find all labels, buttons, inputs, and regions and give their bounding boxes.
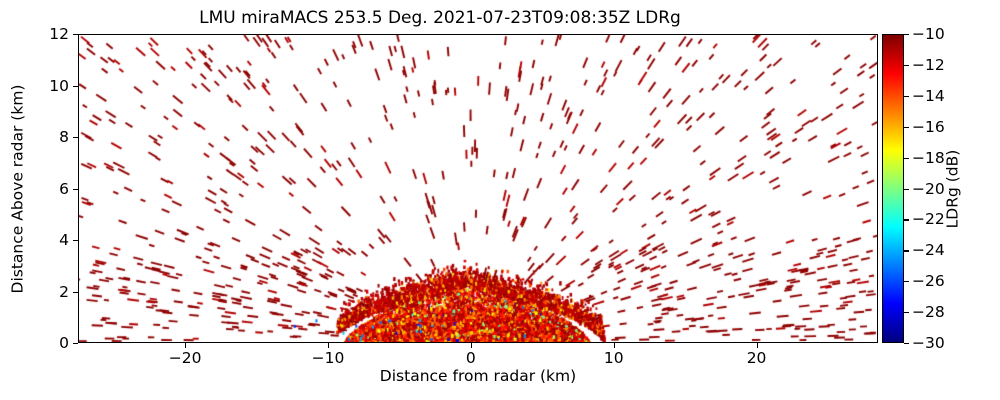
- colorbar-tick-mark: [904, 96, 909, 97]
- x-tick-label: −10: [312, 349, 345, 367]
- y-tick-mark: [73, 137, 78, 138]
- colorbar-tick-mark: [904, 281, 909, 282]
- colorbar-tick-mark: [904, 189, 909, 190]
- y-axis-title: Distance Above radar (km): [6, 34, 28, 343]
- x-tick-label: −20: [169, 349, 202, 367]
- colorbar-gradient: [883, 35, 903, 342]
- colorbar: [882, 34, 904, 343]
- scatter-canvas: [79, 35, 878, 343]
- colorbar-title-text: LDRg (dB): [943, 149, 961, 228]
- x-axis-title: Distance from radar (km): [78, 367, 878, 385]
- y-tick-mark: [73, 240, 78, 241]
- colorbar-tick-mark: [904, 65, 909, 66]
- x-tick-mark: [614, 343, 615, 348]
- colorbar-tick-mark: [904, 127, 909, 128]
- x-tick-mark: [757, 343, 758, 348]
- y-tick-mark: [73, 86, 78, 87]
- x-tick-label: 20: [747, 349, 767, 367]
- colorbar-tick-mark: [904, 312, 909, 313]
- y-tick-mark: [73, 292, 78, 293]
- radar-rhi-figure: LMU miraMACS 253.5 Deg. 2021-07-23T09:08…: [0, 0, 1000, 400]
- colorbar-tick-mark: [904, 250, 909, 251]
- y-tick-mark: [73, 34, 78, 35]
- colorbar-tick-mark: [904, 158, 909, 159]
- colorbar-tick-mark: [904, 219, 909, 220]
- chart-title: LMU miraMACS 253.5 Deg. 2021-07-23T09:08…: [0, 8, 880, 28]
- x-tick-label: 10: [604, 349, 624, 367]
- x-tick-mark: [185, 343, 186, 348]
- x-tick-mark: [471, 343, 472, 348]
- x-tick-mark: [328, 343, 329, 348]
- y-tick-mark: [73, 189, 78, 190]
- y-axis-title-text: Distance Above radar (km): [8, 84, 26, 293]
- plot-area: [78, 34, 878, 343]
- colorbar-tick-mark: [904, 34, 909, 35]
- y-tick-mark: [73, 343, 78, 344]
- x-tick-label: 0: [466, 349, 476, 367]
- colorbar-title: LDRg (dB): [940, 34, 964, 343]
- colorbar-tick-mark: [904, 343, 909, 344]
